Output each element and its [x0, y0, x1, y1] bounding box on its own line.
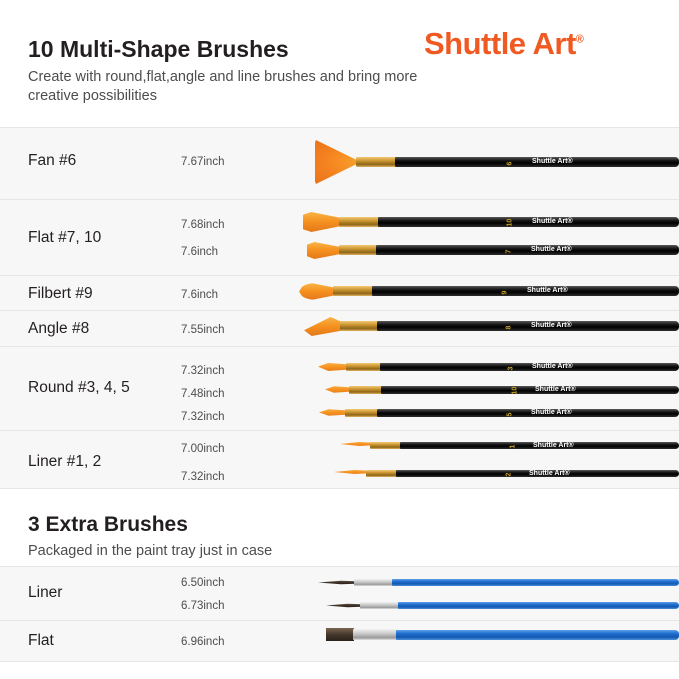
row-label-flat: Flat #7, 10	[28, 229, 101, 247]
row-label-fan: Fan #6	[28, 152, 76, 170]
handle-blue	[396, 630, 679, 640]
row-label-round: Round #3, 4, 5	[28, 379, 130, 397]
ferrule	[370, 442, 402, 449]
ferrule	[339, 217, 379, 227]
brush-round-5: 3 Shuttle Art®	[318, 359, 679, 379]
row-label-liner: Liner #1, 2	[28, 453, 101, 471]
brush-angle-8: 8 Shuttle Art®	[304, 316, 679, 340]
brush-logo-mark: Shuttle Art®	[532, 363, 573, 370]
row-length: 7.68inch	[181, 219, 224, 231]
ferrule-silver	[360, 602, 400, 609]
bristle-angle	[304, 317, 342, 336]
bristle-flat	[307, 242, 341, 259]
ferrule	[345, 409, 379, 417]
handle	[376, 245, 679, 255]
handle	[381, 386, 679, 394]
brush-round-10: 10 Shuttle Art®	[325, 382, 679, 402]
handle	[378, 217, 679, 227]
bristle-flat-dark	[326, 628, 354, 641]
extra-brush-liner-2	[326, 599, 679, 615]
row2-length: 6.96inch	[181, 636, 224, 648]
row-length: 7.48inch	[181, 388, 224, 400]
brush-logo-mark: Shuttle Art®	[531, 322, 572, 329]
ferrule-silver	[353, 629, 398, 640]
row2-label-liner: Liner	[28, 584, 62, 602]
brush-logo-mark: Shuttle Art®	[533, 442, 574, 449]
brush-flat-7: 7 Shuttle Art®	[307, 240, 679, 264]
brush-logo-mark: Shuttle Art®	[532, 218, 573, 225]
row-label-angle: Angle #8	[28, 320, 89, 338]
ferrule	[356, 157, 396, 167]
page-subtitle: Create with round,flat,angle and line br…	[28, 68, 448, 106]
brush-size-mark: 8	[506, 322, 513, 330]
row-label-filbert: Filbert #9	[28, 285, 93, 303]
ferrule-silver	[354, 579, 394, 586]
ferrule	[349, 386, 383, 394]
row-length: 7.32inch	[181, 365, 224, 377]
ferrule	[366, 470, 398, 477]
ferrule	[340, 321, 378, 331]
divider	[0, 488, 679, 489]
ferrule	[339, 245, 377, 255]
extra-brush-flat	[326, 626, 679, 648]
bristle-liner-dark	[326, 603, 362, 608]
bristle-fan	[315, 140, 359, 184]
bristle-round	[318, 362, 348, 372]
ferrule	[333, 286, 373, 296]
brush-logo-mark: Shuttle Art®	[531, 409, 572, 416]
brush-size-mark: 6	[507, 158, 514, 166]
brush-logo-mark: Shuttle Art®	[529, 470, 570, 477]
product-spec-page: Shuttle Art® 10 Multi-Shape Brushes Crea…	[0, 0, 679, 679]
handle-blue	[392, 579, 679, 586]
handle	[377, 409, 679, 417]
row-length: 7.55inch	[181, 324, 224, 336]
brush-size-mark: 9	[502, 287, 509, 295]
row2-length: 6.73inch	[181, 600, 224, 612]
bristle-round	[319, 408, 347, 417]
bristle-filbert	[299, 283, 335, 300]
section2-title: 3 Extra Brushes	[28, 513, 188, 537]
row-length: 7.00inch	[181, 443, 224, 455]
brush-round-3: 5 Shuttle Art®	[319, 405, 679, 425]
handle	[372, 286, 679, 296]
bristle-liner-dark	[318, 580, 356, 585]
bristle-liner	[334, 469, 368, 475]
row-length: 7.32inch	[181, 411, 224, 423]
brush-fan-6: 6 Shuttle Art®	[310, 140, 679, 188]
brush-size-mark: 1	[510, 441, 517, 449]
brand-logo: Shuttle Art®	[424, 26, 583, 62]
brush-size-mark: 3	[508, 363, 515, 371]
brush-size-mark: 2	[506, 469, 513, 477]
brush-size-mark: 10	[507, 217, 514, 227]
brush-liner-1: 1 Shuttle Art®	[340, 437, 679, 457]
brush-size-mark: 10	[512, 385, 519, 395]
brush-filbert-9: 9 Shuttle Art®	[299, 281, 679, 305]
registered-mark: ®	[576, 34, 584, 46]
extra-brush-liner-1	[318, 576, 679, 592]
brand-name: Shuttle Art	[424, 26, 576, 61]
brush-logo-mark: Shuttle Art®	[527, 287, 568, 294]
row2-length: 6.50inch	[181, 577, 224, 589]
row-length: 7.32inch	[181, 471, 224, 483]
bristle-round	[325, 385, 351, 394]
row-length: 7.6inch	[181, 246, 218, 258]
brush-size-mark: 7	[506, 246, 513, 254]
brush-logo-mark: Shuttle Art®	[532, 158, 573, 165]
page-title: 10 Multi-Shape Brushes	[28, 36, 289, 63]
handle	[377, 321, 679, 331]
divider	[0, 661, 679, 662]
brush-logo-mark: Shuttle Art®	[535, 386, 576, 393]
brush-flat-10: 10 Shuttle Art®	[303, 211, 679, 235]
row-length: 7.6inch	[181, 289, 218, 301]
handle	[380, 363, 679, 371]
row2-label-flat: Flat	[28, 632, 54, 650]
section2-subtitle: Packaged in the paint tray just in case	[28, 543, 272, 559]
row-length: 7.67inch	[181, 156, 224, 168]
ferrule	[346, 363, 382, 371]
brush-logo-mark: Shuttle Art®	[531, 246, 572, 253]
brush-liner-2: 2 Shuttle Art®	[334, 465, 679, 485]
bristle-flat	[303, 212, 341, 232]
brush-size-mark: 5	[507, 409, 514, 417]
bristle-liner	[340, 441, 372, 447]
handle-blue	[398, 602, 679, 609]
